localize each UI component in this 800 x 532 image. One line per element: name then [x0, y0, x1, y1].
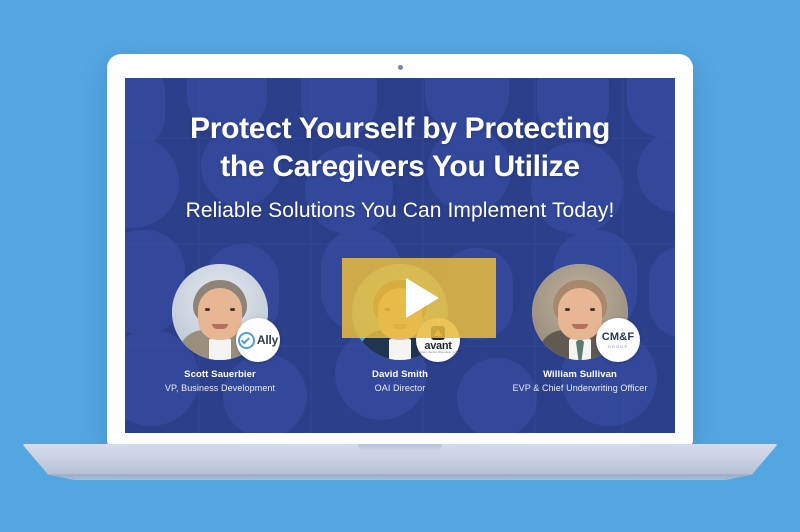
speaker-name: Scott Sauerbier	[184, 369, 256, 380]
laptop-foot	[30, 474, 770, 480]
cmf-logo-tagline: GROUP	[608, 345, 629, 349]
avatar-face	[198, 288, 242, 340]
cmf-logo-text: CM&F	[602, 332, 635, 343]
speaker-role: VP, Business Development	[165, 383, 275, 393]
laptop-lid: Protect Yourself by Protecting the Careg…	[107, 54, 693, 445]
avatar-mouth	[212, 324, 228, 329]
avatar-eye-left	[565, 308, 570, 311]
ally-logo-icon: Ally	[236, 318, 280, 362]
speaker-name: David Smith	[372, 369, 428, 380]
laptop-base	[22, 444, 778, 475]
speaker-name: William Sullivan	[543, 369, 617, 380]
slide-title: Protect Yourself by Protecting the Careg…	[147, 110, 653, 187]
avatar-eye-left	[205, 308, 210, 311]
slide-title-line-2: the Caregivers You Utilize	[147, 148, 653, 186]
avatar-face	[558, 288, 602, 340]
avatar-eye-right	[590, 308, 595, 311]
avatar-mouth	[572, 324, 588, 329]
slide-title-line-1: Protect Yourself by Protecting	[147, 110, 653, 148]
speaker-photo-wrap: CM&F GROUP	[532, 264, 628, 360]
speaker-role: EVP & Chief Underwriting Officer	[513, 383, 648, 393]
ally-check-icon	[238, 332, 255, 349]
avatar-eye-right	[230, 308, 235, 311]
video-slide: Protect Yourself by Protecting the Careg…	[125, 78, 675, 433]
camera-dot-icon	[398, 65, 403, 70]
speaker-role: OAI Director	[375, 383, 426, 393]
speaker-card: CM&F GROUP William Sullivan EVP & Chief …	[503, 264, 657, 393]
avant-logo-tagline: Protect Identity, Reputation, Life	[418, 352, 458, 355]
laptop-screen: Protect Yourself by Protecting the Careg…	[125, 78, 675, 433]
play-triangle-icon	[406, 278, 439, 318]
page-background: Protect Yourself by Protecting the Careg…	[0, 0, 800, 532]
ally-logo-text: Ally	[257, 333, 278, 347]
cmf-logo-icon: CM&F GROUP	[596, 318, 640, 362]
play-button[interactable]	[342, 258, 496, 338]
laptop-notch	[358, 444, 442, 451]
speaker-card: Ally Scott Sauerbier VP, Business Develo…	[143, 264, 297, 393]
slide-subtitle: Reliable Solutions You Can Implement Tod…	[142, 199, 659, 223]
speaker-photo-wrap: Ally	[172, 264, 268, 360]
